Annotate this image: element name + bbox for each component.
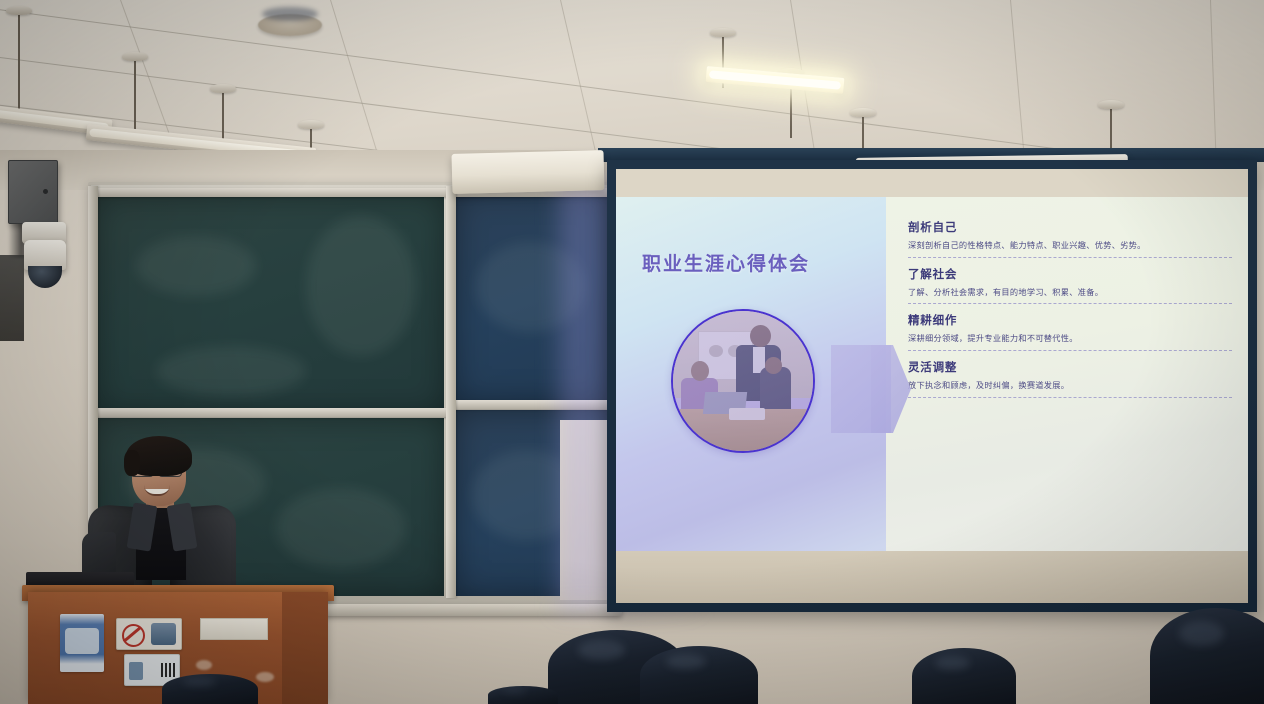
- sticker-no-smoking-warning: [116, 618, 182, 650]
- smoke-detector-icon: [258, 14, 322, 36]
- item-divider: [908, 257, 1232, 258]
- item-heading: 剖析自己: [908, 219, 1232, 235]
- light-hanger-cap: [6, 6, 32, 15]
- item-description: 了解、分析社会需求，有目的地学习、积累、准备。: [908, 287, 1232, 298]
- wall-dark-panel: [0, 255, 24, 341]
- blackboard-panel-blue: [456, 192, 612, 402]
- light-hanger-cap: [850, 108, 876, 117]
- item-divider: [908, 303, 1232, 304]
- electrical-box: [8, 160, 58, 224]
- blackboard-rail: [92, 408, 452, 417]
- sticker-blank-white-label: [200, 618, 268, 640]
- item-description: 放下执念和顾虑，及时纠偏，换赛道发展。: [908, 380, 1232, 391]
- presentation-slide: 职业生涯心得体会: [616, 197, 1248, 551]
- light-hanger-cap: [210, 84, 236, 93]
- item-heading: 精耕细作: [908, 312, 1232, 328]
- blackboard-panel: [96, 196, 444, 412]
- list-item: 灵活调整 放下执念和顾虑，及时纠偏，换赛道发展。: [908, 359, 1232, 398]
- photo-color-overlay: [673, 311, 813, 451]
- light-hanger-rod: [862, 112, 864, 152]
- slide-right-panel: 剖析自己 深刻剖析自己的性格特点、能力特点、职业兴趣、优势、劣势。 了解社会 了…: [886, 197, 1248, 551]
- presenter-hair: [126, 436, 192, 476]
- slide-item-list: 剖析自己 深刻剖析自己的性格特点、能力特点、职业兴趣、优势、劣势。 了解社会 了…: [908, 219, 1232, 406]
- item-heading: 灵活调整: [908, 359, 1232, 375]
- light-hanger-rod: [134, 56, 136, 140]
- list-item: 了解社会 了解、分析社会需求，有目的地学习、积累、准备。: [908, 266, 1232, 305]
- light-hanger-cap: [298, 120, 324, 129]
- light-hanger-rod: [18, 10, 20, 110]
- list-item: 精耕细作 深耕细分领域，提升专业能力和不可替代性。: [908, 312, 1232, 351]
- light-hanger-rod: [222, 88, 224, 144]
- audience-head: [488, 686, 558, 704]
- light-hanger-rod: [1110, 104, 1112, 150]
- list-item: 剖析自己 深刻剖析自己的性格特点、能力特点、职业兴趣、优势、劣势。: [908, 219, 1232, 258]
- audience-head: [162, 674, 258, 704]
- light-hanger-cap: [1098, 100, 1124, 109]
- item-divider: [908, 397, 1232, 398]
- audience-head: [912, 648, 1016, 704]
- slide-title: 职业生涯心得体会: [642, 249, 810, 276]
- slide-left-panel: 职业生涯心得体会: [616, 197, 886, 551]
- classroom-scene: 职业生涯心得体会: [0, 0, 1264, 704]
- item-divider: [908, 350, 1232, 351]
- light-hanger-cap: [122, 52, 148, 61]
- light-hanger-cap: [710, 28, 736, 37]
- item-description: 深刻剖析自己的性格特点、能力特点、职业兴趣、优势、劣势。: [908, 240, 1232, 251]
- sticker-blue-safety-poster: [60, 614, 104, 672]
- audience-head: [640, 646, 758, 704]
- blackboard-rail: [452, 400, 616, 409]
- projection-screen-surface[interactable]: 职业生涯心得体会: [616, 169, 1248, 603]
- screen-blank-band: [616, 551, 1248, 603]
- rolled-screen-left: [452, 150, 605, 194]
- blackboard-divider-rail: [446, 186, 456, 598]
- item-heading: 了解社会: [908, 266, 1232, 282]
- slide-photo-circle: [671, 309, 815, 453]
- item-description: 深耕细分领域，提升专业能力和不可替代性。: [908, 333, 1232, 344]
- audience-head: [1150, 608, 1264, 704]
- podium-side-face: [282, 592, 328, 704]
